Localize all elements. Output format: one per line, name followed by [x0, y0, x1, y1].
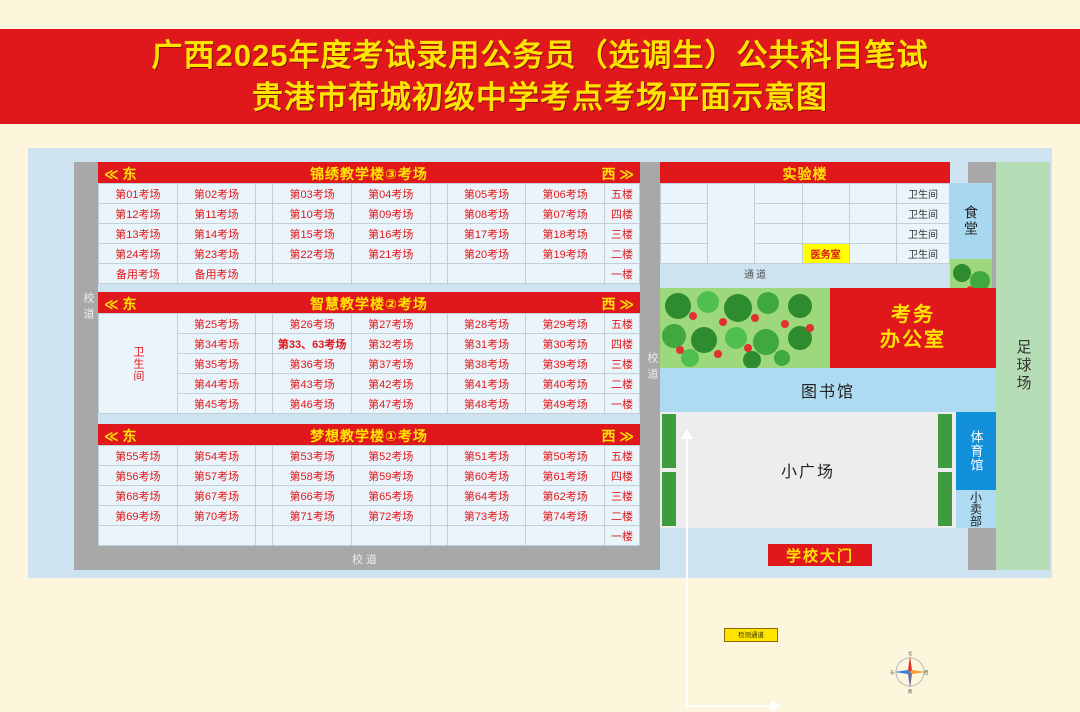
- room-cell[interactable]: 第18考场: [526, 224, 605, 244]
- room-cell[interactable]: 第23考场: [177, 244, 256, 264]
- room-cell[interactable]: 第15考场: [273, 224, 352, 244]
- room-cell[interactable]: 第32考场: [351, 334, 430, 354]
- stairwell-gap: [256, 224, 273, 244]
- football-field: 足球场: [996, 162, 1050, 570]
- building-jinxiu-3: ≪ 东 锦绣教学楼③考场 西 ≫ 第01考场 第02考场 第03考场 第04考场…: [98, 162, 640, 284]
- lab-room-cell[interactable]: [755, 244, 802, 264]
- title-line-2: 贵港市荷城初级中学考点考场平面示意图: [252, 77, 828, 119]
- room-cell[interactable]: 第26考场: [273, 314, 352, 334]
- library: 图书馆: [660, 368, 996, 412]
- exam-office-label-2: 办公室: [880, 328, 946, 353]
- compass-icon: 北 南 东 西: [888, 650, 932, 694]
- room-cell[interactable]: 第51考场: [447, 446, 526, 466]
- floor-label: 二楼: [605, 374, 640, 394]
- room-cell[interactable]: 第25考场: [177, 314, 256, 334]
- library-label: 图书馆: [801, 378, 855, 402]
- room-cell[interactable]: 第56考场: [99, 466, 178, 486]
- floor-label: 五楼: [605, 184, 640, 204]
- table-row: 医务室 卫生间: [661, 244, 950, 264]
- room-cell[interactable]: 第14考场: [177, 224, 256, 244]
- stairwell-gap: [256, 334, 273, 354]
- stairwell-gap: [256, 446, 273, 466]
- stairwell-gap: [430, 204, 447, 224]
- stairwell-gap: [430, 314, 447, 334]
- exam-office: 考务 办公室: [830, 288, 996, 368]
- lab-room-cell[interactable]: [661, 184, 708, 204]
- lab-building: 实验楼 卫生间: [660, 162, 950, 264]
- room-cell[interactable]: 第69考场: [99, 506, 178, 526]
- gym: 体育馆: [956, 412, 996, 490]
- road-middle: 校道: [640, 162, 660, 570]
- empty-cell: [526, 264, 605, 284]
- direction-west-1: 西 ≫: [601, 426, 634, 446]
- shop: 小卖部: [956, 490, 996, 528]
- hedge-left-lower: [662, 472, 676, 526]
- stairwell-gap: [430, 184, 447, 204]
- lab-room-cell[interactable]: [802, 204, 849, 224]
- floor-label: 二楼: [605, 244, 640, 264]
- lab-building-header: 实验楼: [660, 162, 950, 183]
- empty-cell: [351, 526, 430, 546]
- room-cell[interactable]: 第17考场: [447, 224, 526, 244]
- empty-cell: [177, 526, 256, 546]
- hedge-right-upper: [938, 414, 952, 468]
- room-cell[interactable]: 第28考场: [447, 314, 526, 334]
- room-cell[interactable]: 第43考场: [273, 374, 352, 394]
- empty-cell: [447, 264, 526, 284]
- room-cell[interactable]: 第55考场: [99, 446, 178, 466]
- stairwell-gap: [256, 314, 273, 334]
- room-cell[interactable]: 第21考场: [351, 244, 430, 264]
- building-zhihui-2: ≪ 东 智慧教学楼②考场 西 ≫ 卫生间 第25考场 第26考场 第27考场 第…: [98, 292, 640, 414]
- floor-label: 一楼: [605, 264, 640, 284]
- direction-arrow-up: [686, 438, 688, 564]
- room-cell[interactable]: 第34考场: [177, 334, 256, 354]
- lab-room-cell[interactable]: [661, 204, 708, 224]
- building-mengxiang-1: ≪ 东 梦想教学楼①考场 西 ≫ 第55考场 第54考场 第53考场 第52考场…: [98, 424, 640, 546]
- title-line-1: 广西2025年度考试录用公务员（选调生）公共科目笔试: [152, 35, 929, 77]
- stairwell-gap: [256, 204, 273, 224]
- campus-map: 通道 考务 办公室 图书馆 小广场 体育馆 小卖部: [660, 280, 996, 570]
- floor-label: 四楼: [605, 334, 640, 354]
- room-cell[interactable]: 第52考场: [351, 446, 430, 466]
- room-cell[interactable]: 第48考场: [447, 394, 526, 414]
- stairwell-gap: [430, 224, 447, 244]
- lab-room-cell[interactable]: [755, 184, 802, 204]
- empty-cell: [351, 264, 430, 284]
- restroom-cell: 卫生间: [897, 204, 950, 224]
- room-cell[interactable]: 第71考场: [273, 506, 352, 526]
- room-cell[interactable]: 第35考场: [177, 354, 256, 374]
- room-cell[interactable]: 第40考场: [526, 374, 605, 394]
- stairwell-gap: [256, 264, 273, 284]
- building-1-name: 梦想教学楼①考场: [98, 426, 640, 446]
- plaza-label: 小广场: [781, 458, 835, 482]
- floor-label: 五楼: [605, 314, 640, 334]
- building-3-header: ≪ 东 锦绣教学楼③考场 西 ≫: [98, 162, 640, 183]
- room-cell[interactable]: 第41考场: [447, 374, 526, 394]
- room-cell[interactable]: 第05考场: [447, 184, 526, 204]
- direction-arrow-to-gate: [686, 705, 772, 707]
- table-row: 卫生间 第25考场 第26考场 第27考场 第28考场 第29考场 五楼: [99, 314, 640, 334]
- stairwell-gap: [256, 244, 273, 264]
- room-cell[interactable]: 第46考场: [273, 394, 352, 414]
- room-cell[interactable]: 第50考场: [526, 446, 605, 466]
- stairwell-gap: [430, 244, 447, 264]
- stairwell-gap: [430, 506, 447, 526]
- stairwell-gap: [430, 264, 447, 284]
- floor-label: 五楼: [605, 446, 640, 466]
- room-cell[interactable]: 第13考场: [99, 224, 178, 244]
- stairwell-gap: [430, 334, 447, 354]
- floor-label: 三楼: [605, 486, 640, 506]
- room-cell[interactable]: 第39考场: [526, 354, 605, 374]
- room-cell[interactable]: 第16考场: [351, 224, 430, 244]
- svg-text:西: 西: [924, 670, 929, 676]
- lab-room-cell[interactable]: [849, 184, 896, 204]
- floor-label: 四楼: [605, 466, 640, 486]
- room-cell[interactable]: 第12考场: [99, 204, 178, 224]
- room-cell[interactable]: 第62考场: [526, 486, 605, 506]
- floor-label: 三楼: [605, 224, 640, 244]
- room-cell[interactable]: 第66考场: [273, 486, 352, 506]
- room-cell[interactable]: 第57考场: [177, 466, 256, 486]
- room-cell[interactable]: 第73考场: [447, 506, 526, 526]
- table-row: 第45考场 第46考场 第47考场 第48考场 第49考场 一楼: [99, 394, 640, 414]
- spare-room-cell[interactable]: 备用考场: [177, 264, 256, 284]
- floor-label: 三楼: [605, 354, 640, 374]
- stairwell-gap: [256, 506, 273, 526]
- room-cell-highlighted[interactable]: 第33、63考场: [273, 334, 352, 354]
- room-cell[interactable]: 第11考场: [177, 204, 256, 224]
- tree-icon: [660, 288, 830, 368]
- stairwell-gap: [256, 466, 273, 486]
- table-row: 第44考场 第43考场 第42考场 第41考场 第40考场 二楼: [99, 374, 640, 394]
- building-1-header: ≪ 东 梦想教学楼①考场 西 ≫: [98, 424, 640, 445]
- svg-text:东: 东: [890, 669, 895, 675]
- lab-room-cell[interactable]: [755, 204, 802, 224]
- room-cell[interactable]: 第44考场: [177, 374, 256, 394]
- exam-office-label-1: 考务: [891, 303, 935, 328]
- shop-label: 小卖部: [968, 491, 985, 527]
- room-cell[interactable]: 第65考场: [351, 486, 430, 506]
- stairwell-gap: [430, 394, 447, 414]
- lab-room-cell[interactable]: [802, 224, 849, 244]
- school-gate: 学校大门: [768, 544, 872, 566]
- building-3-table: 第01考场 第02考场 第03考场 第04考场 第05考场 第06考场 五楼 第…: [98, 183, 640, 284]
- stairwell-gap: [256, 374, 273, 394]
- room-cell[interactable]: 第03考场: [273, 184, 352, 204]
- lab-stair-cell: [708, 184, 755, 264]
- room-cell[interactable]: 第30考场: [526, 334, 605, 354]
- stairwell-gap: [430, 446, 447, 466]
- stairwell-gap: [256, 526, 273, 546]
- road-left-label: 校道: [80, 292, 96, 324]
- passage-label: 通道: [744, 266, 768, 281]
- building-1-table: 第55考场 第54考场 第53考场 第52考场 第51考场 第50考场 五楼 第…: [98, 445, 640, 546]
- room-cell[interactable]: 第49考场: [526, 394, 605, 414]
- table-row: 第01考场 第02考场 第03考场 第04考场 第05考场 第06考场 五楼: [99, 184, 640, 204]
- room-cell[interactable]: 第59考场: [351, 466, 430, 486]
- room-cell[interactable]: 第29考场: [526, 314, 605, 334]
- room-cell[interactable]: 第09考场: [351, 204, 430, 224]
- garden-area: [660, 288, 830, 368]
- lab-building-table: 卫生间 卫生间 卫生间: [660, 183, 950, 264]
- table-row: 卫生间: [661, 224, 950, 244]
- room-cell[interactable]: 第24考场: [99, 244, 178, 264]
- room-cell[interactable]: 第02考场: [177, 184, 256, 204]
- title-banner: 广西2025年度考试录用公务员（选调生）公共科目笔试 贵港市荷城初级中学考点考场…: [0, 29, 1080, 124]
- road-bottom-label: 校道: [352, 551, 380, 567]
- restroom-cell: 卫生间: [99, 314, 178, 414]
- map-frame: 校道 校道 校道 校道 足球场 ≪ 东 锦绣教学楼③考场 西 ≫: [28, 148, 1052, 578]
- room-cell[interactable]: 第08考场: [447, 204, 526, 224]
- room-cell[interactable]: 第42考场: [351, 374, 430, 394]
- check-channel-badge[interactable]: 检测通道: [724, 628, 778, 642]
- room-cell[interactable]: 第54考场: [177, 446, 256, 466]
- direction-west-2: 西 ≫: [601, 294, 634, 314]
- plaza: 小广场: [660, 412, 956, 528]
- table-row: 第55考场 第54考场 第53考场 第52考场 第51考场 第50考场 五楼: [99, 446, 640, 466]
- empty-cell: [273, 264, 352, 284]
- road-left: 校道: [74, 162, 98, 558]
- canteen-label: 食堂: [961, 205, 981, 237]
- lab-room-cell[interactable]: [661, 244, 708, 264]
- lab-building-name: 实验楼: [660, 164, 950, 184]
- road-middle-label: 校道: [644, 352, 660, 384]
- lab-room-cell[interactable]: [849, 204, 896, 224]
- room-cell[interactable]: 第01考场: [99, 184, 178, 204]
- building-3-name: 锦绣教学楼③考场: [98, 164, 640, 184]
- empty-cell: [526, 526, 605, 546]
- building-2-table: 卫生间 第25考场 第26考场 第27考场 第28考场 第29考场 五楼 第34…: [98, 313, 640, 414]
- hedge-left-upper: [662, 414, 676, 468]
- room-cell[interactable]: 第74考场: [526, 506, 605, 526]
- lab-room-cell[interactable]: [755, 224, 802, 244]
- table-row: 第13考场 第14考场 第15考场 第16考场 第17考场 第18考场 三楼: [99, 224, 640, 244]
- room-cell[interactable]: 第20考场: [447, 244, 526, 264]
- stairwell-gap: [430, 526, 447, 546]
- room-cell[interactable]: 第64考场: [447, 486, 526, 506]
- table-row: 一楼: [99, 526, 640, 546]
- lab-room-cell[interactable]: [802, 184, 849, 204]
- floor-label: 一楼: [605, 526, 640, 546]
- svg-text:南: 南: [908, 688, 913, 694]
- restroom-cell: 卫生间: [897, 224, 950, 244]
- room-cell[interactable]: 第60考场: [447, 466, 526, 486]
- table-row: 第69考场 第70考场 第71考场 第72考场 第73考场 第74考场 二楼: [99, 506, 640, 526]
- stairwell-gap: [430, 354, 447, 374]
- room-cell[interactable]: 第47考场: [351, 394, 430, 414]
- stairwell-gap: [256, 354, 273, 374]
- room-cell[interactable]: 第22考场: [273, 244, 352, 264]
- stairwell-gap: [430, 466, 447, 486]
- room-cell[interactable]: 第37考场: [351, 354, 430, 374]
- floor-label: 一楼: [605, 394, 640, 414]
- check-channel-label: 检测通道: [738, 630, 764, 639]
- room-cell[interactable]: 第06考场: [526, 184, 605, 204]
- room-cell[interactable]: 第68考场: [99, 486, 178, 506]
- building-2-name: 智慧教学楼②考场: [98, 294, 640, 314]
- lab-room-cell[interactable]: [849, 224, 896, 244]
- room-cell[interactable]: 第36考场: [273, 354, 352, 374]
- road-bottom: 校道: [74, 544, 640, 570]
- stairwell-gap: [430, 486, 447, 506]
- table-row: 第34考场 第33、63考场 第32考场 第31考场 第30考场 四楼: [99, 334, 640, 354]
- floor-plan-page: 广西2025年度考试录用公务员（选调生）公共科目笔试 贵港市荷城初级中学考点考场…: [0, 0, 1080, 603]
- direction-arrow-vertical: [686, 564, 688, 707]
- table-row: 第24考场 第23考场 第22考场 第21考场 第20考场 第19考场 二楼: [99, 244, 640, 264]
- medical-room-cell[interactable]: 医务室: [802, 244, 849, 264]
- spare-room-cell[interactable]: 备用考场: [99, 264, 178, 284]
- floor-label: 四楼: [605, 204, 640, 224]
- table-row: 备用考场 备用考场 一楼: [99, 264, 640, 284]
- room-cell[interactable]: 第38考场: [447, 354, 526, 374]
- room-cell[interactable]: 第53考场: [273, 446, 352, 466]
- stairwell-gap: [256, 486, 273, 506]
- empty-cell: [447, 526, 526, 546]
- table-row: 第56考场 第57考场 第58考场 第59考场 第60考场 第61考场 四楼: [99, 466, 640, 486]
- room-cell[interactable]: 第70考场: [177, 506, 256, 526]
- stairwell-gap: [256, 184, 273, 204]
- gym-label: 体育馆: [967, 430, 986, 472]
- lab-room-cell[interactable]: [661, 224, 708, 244]
- table-row: 第12考场 第11考场 第10考场 第09考场 第08考场 第07考场 四楼: [99, 204, 640, 224]
- lab-room-cell[interactable]: [849, 244, 896, 264]
- school-gate-label: 学校大门: [786, 545, 854, 566]
- room-cell[interactable]: 第67考场: [177, 486, 256, 506]
- empty-cell: [273, 526, 352, 546]
- room-cell[interactable]: 第19考场: [526, 244, 605, 264]
- table-row: 卫生间: [661, 204, 950, 224]
- restroom-cell: 卫生间: [897, 244, 950, 264]
- building-2-header: ≪ 东 智慧教学楼②考场 西 ≫: [98, 292, 640, 313]
- table-row: 卫生间: [661, 184, 950, 204]
- room-cell[interactable]: 第61考场: [526, 466, 605, 486]
- room-cell[interactable]: 第31考场: [447, 334, 526, 354]
- svg-text:北: 北: [908, 650, 913, 657]
- floor-label: 二楼: [605, 506, 640, 526]
- room-cell[interactable]: 第45考场: [177, 394, 256, 414]
- map-canvas: 校道 校道 校道 校道 足球场 ≪ 东 锦绣教学楼③考场 西 ≫: [40, 162, 1040, 568]
- table-row: 第68考场 第67考场 第66考场 第65考场 第64考场 第62考场 三楼: [99, 486, 640, 506]
- restroom-cell: 卫生间: [897, 184, 950, 204]
- empty-cell: [99, 526, 178, 546]
- hedge-right-lower: [938, 472, 952, 526]
- direction-west-3: 西 ≫: [601, 164, 634, 184]
- room-cell[interactable]: 第10考场: [273, 204, 352, 224]
- stairwell-gap: [256, 394, 273, 414]
- room-cell[interactable]: 第07考场: [526, 204, 605, 224]
- table-row: 第35考场 第36考场 第37考场 第38考场 第39考场 三楼: [99, 354, 640, 374]
- room-cell[interactable]: 第04考场: [351, 184, 430, 204]
- football-field-label: 足球场: [1013, 339, 1034, 393]
- canteen: 食堂: [950, 183, 992, 259]
- room-cell[interactable]: 第27考场: [351, 314, 430, 334]
- room-cell[interactable]: 第72考场: [351, 506, 430, 526]
- room-cell[interactable]: 第58考场: [273, 466, 352, 486]
- stairwell-gap: [430, 374, 447, 394]
